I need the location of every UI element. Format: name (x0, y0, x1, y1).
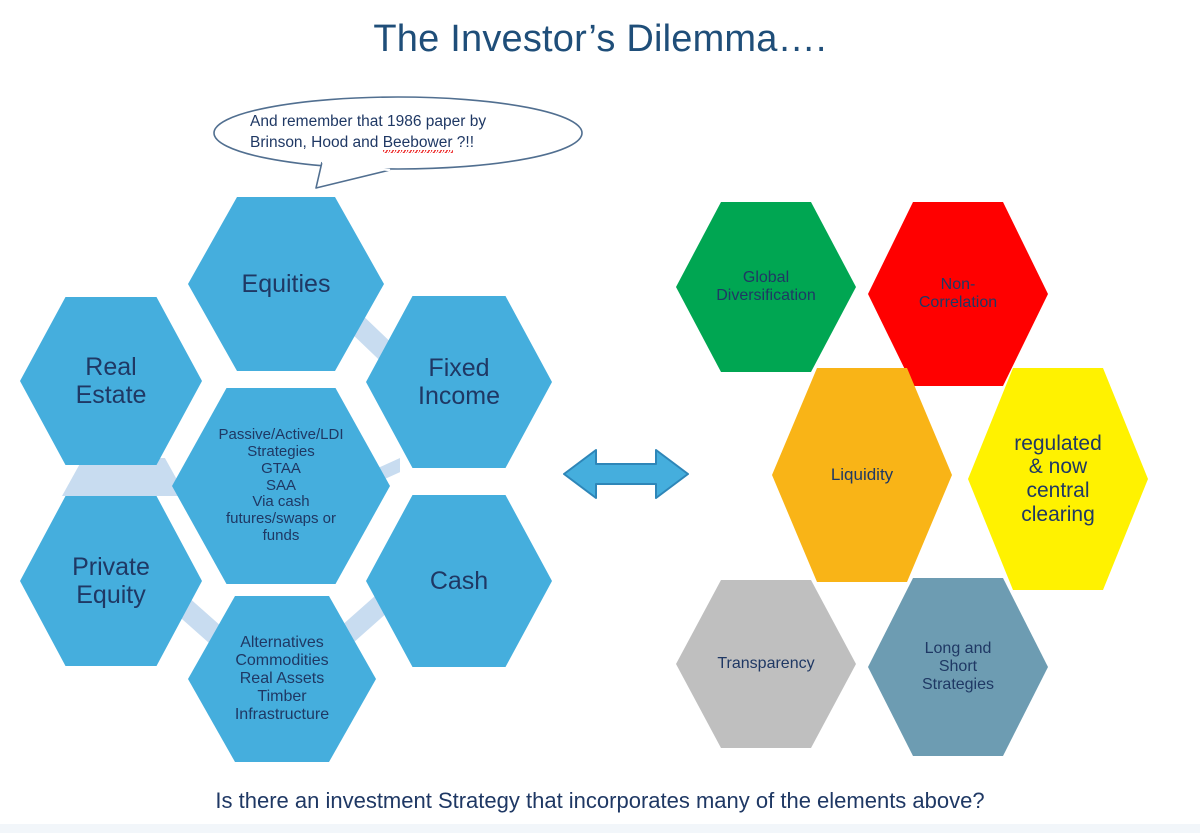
callout-line-2-pre: Brinson, Hood and (250, 134, 383, 151)
hex-private-equity[interactable]: Private Equity (20, 496, 202, 666)
bottom-band (0, 824, 1200, 833)
callout-text: And remember that 1986 paper by Brinson,… (250, 111, 550, 153)
callout-line-2: Brinson, Hood and Beebower ?!! (250, 132, 550, 153)
page-title: The Investor’s Dilemma…. (0, 18, 1200, 61)
hex-liquidity[interactable]: Liquidity (772, 368, 952, 582)
hex-private-equity-label: Private Equity (66, 553, 156, 609)
hex-long-short-strategies-label: Long and Short Strategies (916, 640, 1000, 694)
hex-fixed-income[interactable]: Fixed Income (366, 296, 552, 468)
hex-global-diversification[interactable]: Global Diversification (676, 202, 856, 372)
hex-equities[interactable]: Equities (188, 197, 384, 371)
callout-misspelled-word: Beebower (383, 134, 453, 153)
hex-liquidity-label: Liquidity (825, 465, 899, 484)
footer-question: Is there an investment Strategy that inc… (0, 788, 1200, 814)
hex-equities-label: Equities (236, 270, 337, 298)
hex-non-correlation-label: Non- Correlation (913, 276, 1003, 312)
hex-long-short-strategies[interactable]: Long and Short Strategies (868, 578, 1048, 756)
callout-line-1: And remember that 1986 paper by (250, 111, 550, 132)
callout-line-2-post: ?!! (453, 134, 475, 151)
hex-cash-label: Cash (424, 567, 494, 595)
hex-cash[interactable]: Cash (366, 495, 552, 667)
slide-canvas: The Investor’s Dilemma…. And remember th… (0, 0, 1200, 833)
callout-bubble: And remember that 1986 paper by Brinson,… (212, 96, 584, 196)
hex-central-clearing-label: regulated & now central clearing (1008, 432, 1108, 526)
hex-non-correlation[interactable]: Non- Correlation (868, 202, 1048, 386)
hex-real-estate-label: Real Estate (70, 353, 153, 409)
double-headed-arrow-icon (562, 444, 690, 504)
hex-strategies[interactable]: Passive/Active/LDI Strategies GTAA SAA V… (172, 388, 390, 584)
hex-fixed-income-label: Fixed Income (412, 354, 506, 410)
hex-transparency[interactable]: Transparency (676, 580, 856, 748)
hex-central-clearing[interactable]: regulated & now central clearing (968, 368, 1148, 590)
hex-global-diversification-label: Global Diversification (710, 269, 822, 305)
hex-real-estate[interactable]: Real Estate (20, 297, 202, 465)
hex-transparency-label: Transparency (711, 655, 820, 673)
hex-alternatives-label: Alternatives Commodities Real Assets Tim… (229, 634, 335, 724)
hex-strategies-label: Passive/Active/LDI Strategies GTAA SAA V… (212, 427, 349, 545)
